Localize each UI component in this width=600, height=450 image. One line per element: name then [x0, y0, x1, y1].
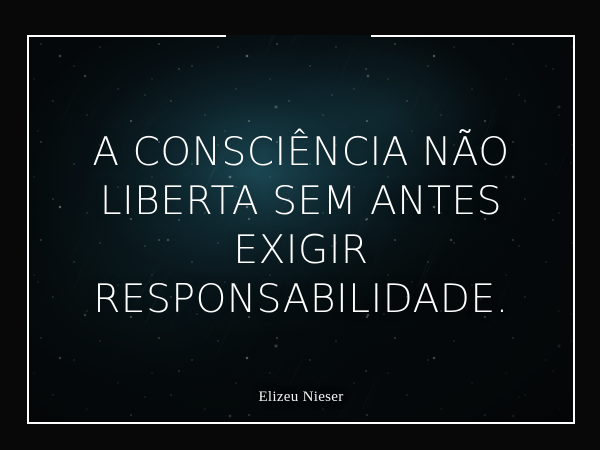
quote-content: A CONSCIÊNCIA NÃO LIBERTA SEM ANTES EXIG… [29, 37, 573, 422]
frame-border-right [573, 35, 575, 424]
frame-border-bottom [27, 422, 575, 424]
quote-body-text: A CONSCIÊNCIA NÃO LIBERTA SEM ANTES EXIG… [29, 128, 573, 324]
quote-card: A CONSCIÊNCIA NÃO LIBERTA SEM ANTES EXIG… [0, 0, 600, 450]
quote-author-name: Elizeu Nieser [29, 389, 573, 406]
